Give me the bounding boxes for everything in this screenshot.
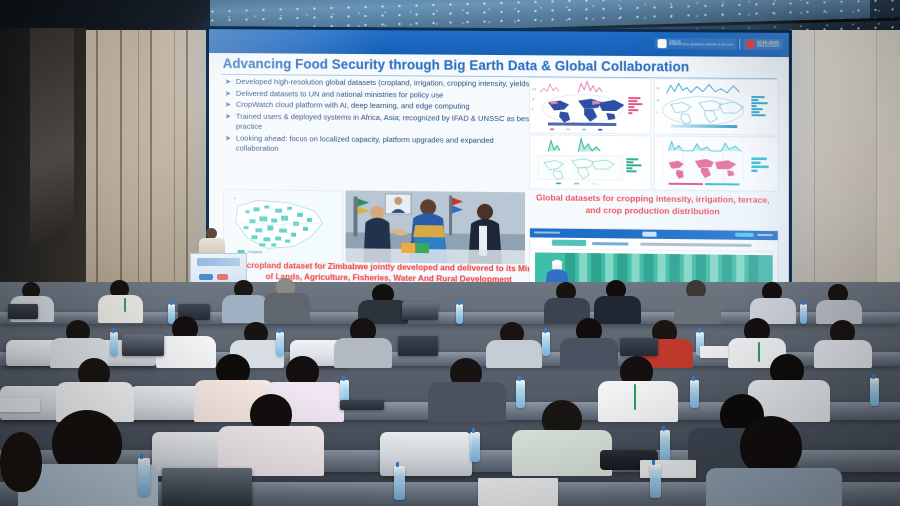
- bullet-text: Developed high-resolution global dataset…: [236, 77, 532, 89]
- lanyard: [634, 384, 636, 410]
- laptop[interactable]: [620, 338, 658, 356]
- podium-logo-secondary: [217, 274, 228, 280]
- laptop[interactable]: [162, 468, 252, 506]
- bullet-text: CropWatch cloud platform with AI, deep l…: [236, 100, 470, 112]
- audience-area: [0, 282, 900, 506]
- svg-text:100: 100: [532, 88, 537, 91]
- laptop[interactable]: [122, 334, 164, 356]
- bullet-marker-icon: ➤: [225, 100, 231, 110]
- slide-body: Advancing Food Security through Big Eart…: [209, 53, 789, 293]
- laptop[interactable]: [340, 400, 384, 410]
- chart-panel-group: 100500: [529, 77, 777, 190]
- laptop[interactable]: [398, 336, 438, 356]
- podium-logo: [199, 274, 213, 280]
- website-menu-bar: [530, 237, 778, 252]
- right-caption: Global datasets for cropping intensity, …: [529, 192, 777, 218]
- chart-panel: 100500: [529, 77, 652, 134]
- slide-logo-group: CBAS INTERNATIONAL RESEARCH CENTER OF BI…: [655, 36, 783, 52]
- terrace-chart: [530, 135, 650, 189]
- water-bottle[interactable]: [394, 466, 405, 500]
- chart-panel: [654, 135, 779, 191]
- bullet-item: ➤CropWatch cloud platform with AI, deep …: [225, 100, 538, 113]
- bullet-item: ➤Trained users & deployed systems in Afr…: [225, 112, 538, 135]
- podium-banner: [197, 258, 240, 266]
- cbas-logo: CBAS INTERNATIONAL RESEARCH CENTER OF BI…: [655, 38, 736, 50]
- irrigation-chart: 80400: [655, 79, 778, 134]
- water-bottle[interactable]: [276, 332, 284, 356]
- wall-dark-recess-inner: [30, 28, 74, 243]
- anniversary-subtitle: ANNIVERSARY: [757, 45, 780, 49]
- svg-text:50: 50: [532, 98, 535, 101]
- svg-text:0: 0: [532, 108, 534, 111]
- bullet-marker-icon: ➤: [225, 77, 231, 87]
- bullet-marker-icon: ➤: [225, 112, 231, 132]
- cropping-intensity-chart: 100500: [530, 78, 650, 133]
- water-bottle[interactable]: [542, 332, 550, 356]
- bullet-marker-icon: ➤: [225, 134, 231, 154]
- papers[interactable]: [0, 398, 40, 412]
- lanyard: [758, 342, 760, 362]
- cbas-logo-mark: [658, 39, 667, 48]
- conference-room-photo: CBAS INTERNATIONAL RESEARCH CENTER OF BI…: [0, 0, 900, 506]
- svg-text:N: N: [234, 196, 236, 200]
- logo-divider: [740, 39, 741, 50]
- water-bottle[interactable]: [456, 304, 463, 324]
- papers[interactable]: [478, 478, 558, 506]
- chart-panel: 80400: [654, 78, 779, 135]
- slide-title: Advancing Food Security through Big Eart…: [223, 56, 689, 74]
- projection-screen: CBAS INTERNATIONAL RESEARCH CENTER OF BI…: [209, 29, 789, 293]
- slide-bullet-list: ➤Developed high-resolution global datase…: [225, 77, 538, 158]
- water-bottle[interactable]: [138, 458, 150, 496]
- water-bottle[interactable]: [516, 380, 525, 408]
- svg-text:80: 80: [657, 87, 660, 90]
- svg-text:0: 0: [657, 111, 659, 114]
- svg-text:Cropland: Cropland: [248, 250, 262, 254]
- bullet-text: Trained users & deployed systems in Afri…: [236, 112, 538, 135]
- water-bottle[interactable]: [660, 430, 670, 462]
- bullet-item: ➤Delivered datasets to UN and national m…: [225, 89, 538, 102]
- cbas-logo-subtitle: INTERNATIONAL RESEARCH CENTER OF BIG DAT…: [669, 44, 733, 47]
- bullet-item: ➤Looking ahead: focus on localized capac…: [225, 134, 538, 157]
- papers[interactable]: [640, 460, 696, 478]
- water-bottle[interactable]: [870, 378, 879, 406]
- papers[interactable]: [700, 346, 728, 358]
- water-bottle[interactable]: [690, 380, 699, 408]
- water-bottle[interactable]: [470, 432, 480, 462]
- bullet-marker-icon: ➤: [225, 89, 231, 99]
- crop-production-chart: [655, 136, 778, 190]
- water-bottle[interactable]: [800, 304, 807, 324]
- bullet-text: Looking ahead: focus on localized capaci…: [236, 134, 538, 157]
- anniversary-logo-mark: [747, 40, 755, 49]
- laptop[interactable]: [8, 304, 38, 319]
- water-bottle[interactable]: [110, 332, 118, 356]
- water-bottle[interactable]: [650, 464, 661, 498]
- bullet-text: Delivered datasets to UN and national mi…: [236, 89, 443, 101]
- chart-panel: [529, 134, 652, 190]
- laptop[interactable]: [402, 302, 438, 320]
- chair: [130, 386, 202, 420]
- bullet-item: ➤Developed high-resolution global datase…: [225, 77, 538, 90]
- handshake-photo: [346, 190, 525, 264]
- svg-text:40: 40: [657, 99, 660, 102]
- lanyard: [124, 298, 126, 312]
- anniversary-logo: 2016-2025 ANNIVERSARY: [744, 39, 783, 50]
